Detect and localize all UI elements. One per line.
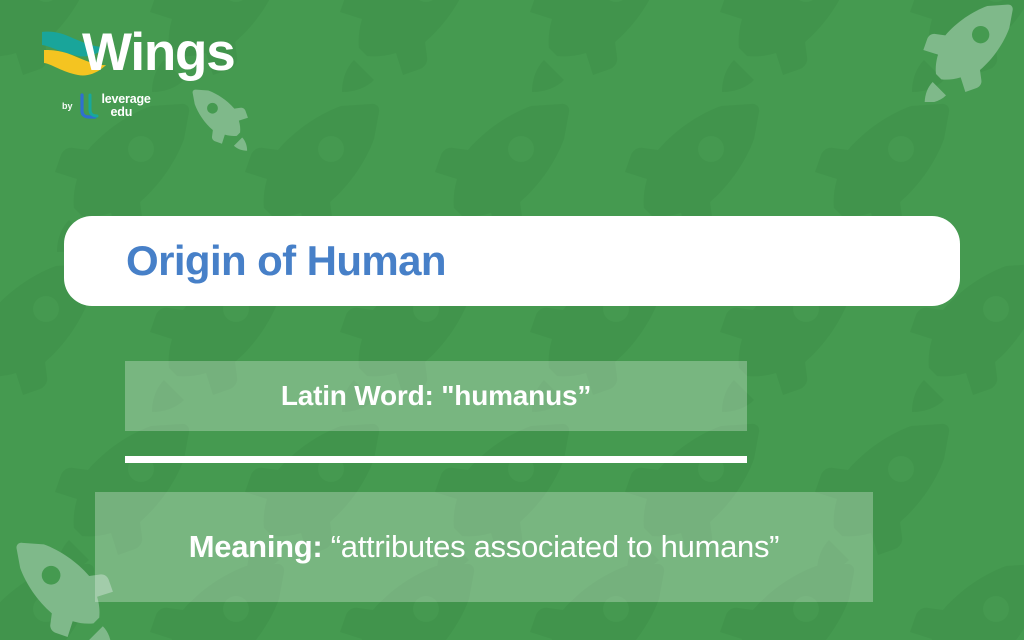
meaning-value: “attributes associated to humans” xyxy=(322,529,779,564)
page-title: Origin of Human xyxy=(126,237,446,285)
leverage-edu-mark-icon xyxy=(79,93,101,119)
leverage-edu-wordmark: leverage edu xyxy=(102,94,151,118)
meaning-band: Meaning: “attributes associated to human… xyxy=(95,492,873,602)
latin-word-band: Latin Word: "humanus” xyxy=(125,361,747,431)
latin-word-text: Latin Word: "humanus” xyxy=(281,380,591,412)
logo-partner-row: by leverage edu xyxy=(62,92,151,120)
wings-logo[interactable]: Wings by leverage edu xyxy=(22,26,252,126)
infographic-canvas: Wings by leverage edu Origin of Human La… xyxy=(0,0,1024,640)
logo-by-label: by xyxy=(62,101,73,111)
meaning-text: Meaning: “attributes associated to human… xyxy=(189,521,779,573)
meaning-label: Meaning: xyxy=(189,529,323,564)
logo-primary-row: Wings xyxy=(22,26,252,88)
logo-wordmark: Wings xyxy=(82,22,235,84)
leverage-edu-line1: leverage xyxy=(102,92,151,106)
section-divider xyxy=(125,456,747,463)
title-card: Origin of Human xyxy=(64,216,960,306)
leverage-edu-line2: edu xyxy=(111,107,151,118)
